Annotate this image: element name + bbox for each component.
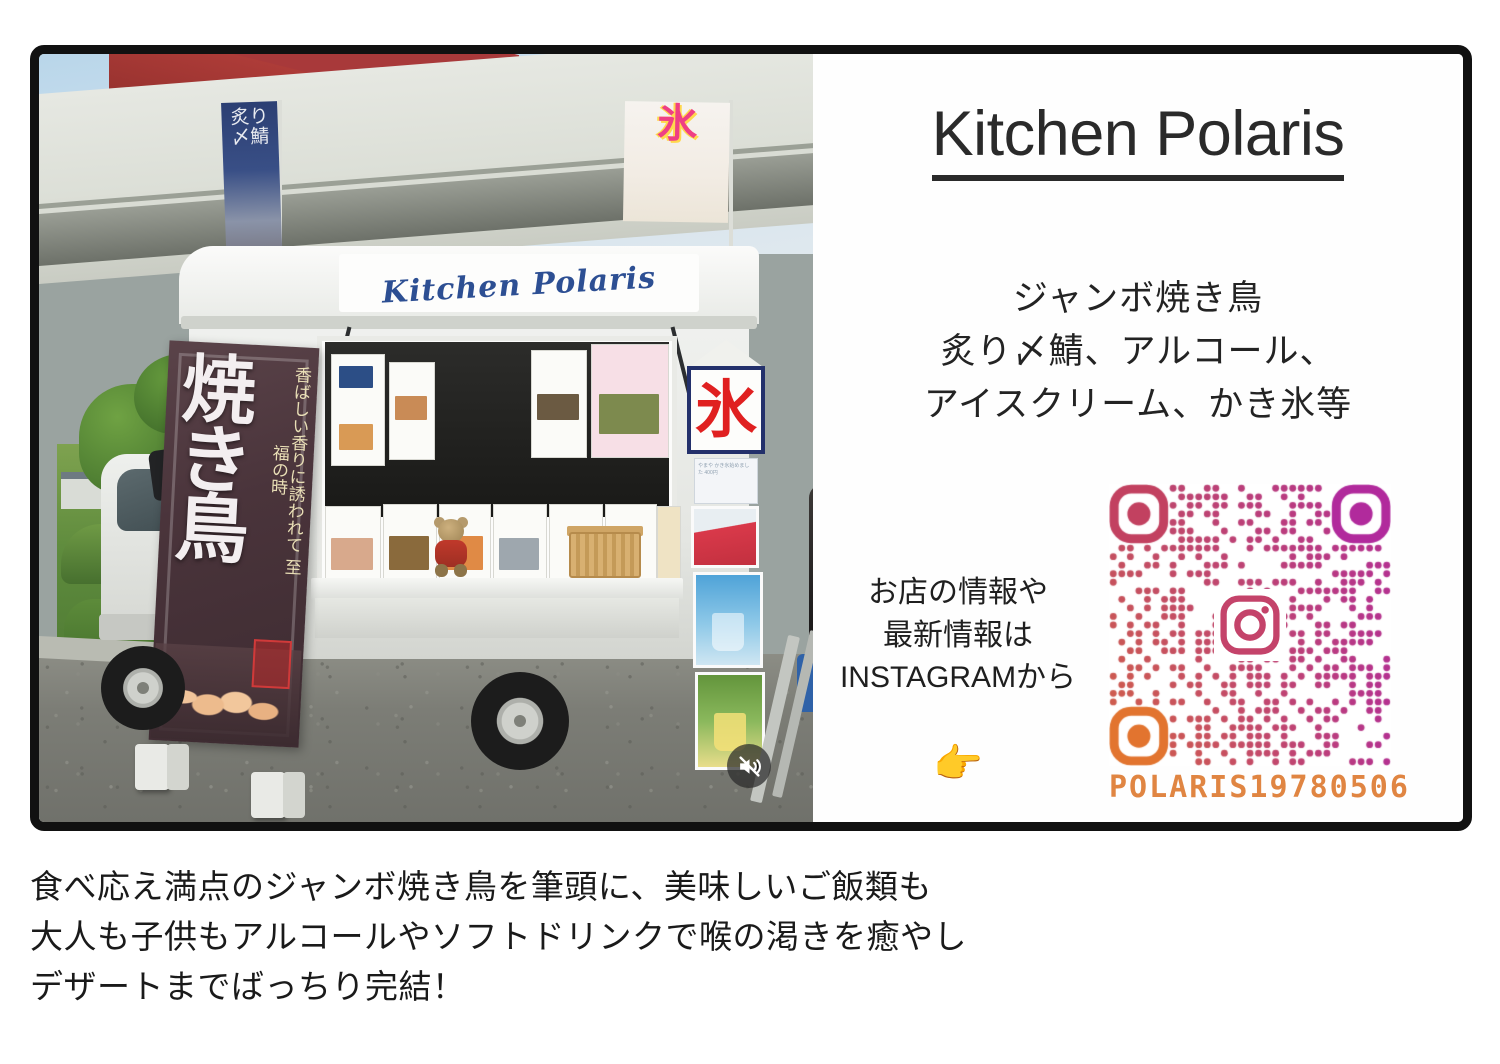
food-truck-video[interactable]: 炙り〆鯖 氷 Kitchen Polaris <box>39 54 813 822</box>
ice-cream-photo <box>712 613 744 651</box>
caption-line: 食べ応え満点のジャンボ焼き鳥を筆頭に、美味しいご飯類も <box>30 862 1330 912</box>
info-panel: Kitchen Polaris ジャンボ焼き鳥 炙り〆鯖、アルコール、 アイスク… <box>813 54 1463 822</box>
promo-line: INSTAGRAMから <box>833 657 1083 700</box>
ice-sign: 氷 <box>687 366 765 454</box>
item-card-thumb <box>331 538 373 570</box>
instagram-qr-block[interactable]: POLARIS19780506 <box>1109 484 1399 805</box>
pointing-right-hand-icon: 👉 <box>833 744 1083 784</box>
item-card-thumb <box>499 538 539 570</box>
ice-sub-poster: やまや かき氷始めました 400円 <box>694 458 758 504</box>
banner-stamp <box>252 639 292 689</box>
white-flag-label: 氷 <box>628 103 726 167</box>
ice-cream-poster <box>693 572 763 668</box>
counter-skirt <box>315 598 679 638</box>
speaker-muted-icon <box>737 754 762 779</box>
promo-line: お店の情報や <box>833 572 1083 615</box>
menu-line: アイスクリーム、かき氷等 <box>813 378 1463 431</box>
menu-poster-thumb <box>395 396 427 420</box>
shaved-ice-poster <box>691 506 759 568</box>
instagram-qr-code[interactable] <box>1109 484 1391 766</box>
listing-card: 炙り〆鯖 氷 Kitchen Polaris <box>30 45 1472 831</box>
banner-weight-right-b <box>283 772 305 818</box>
instagram-handle: POLARIS19780506 <box>1109 770 1399 805</box>
wicker-basket <box>569 532 641 578</box>
bear-leg-left <box>435 564 448 577</box>
banner-main-text: 焼き鳥 <box>162 355 269 568</box>
bear-leg-right <box>454 564 467 577</box>
teddy-bear-mascot <box>431 519 471 577</box>
caption-line: 大人も子供もアルコールやソフトドリンクで喉の渇きを癒やし <box>30 912 1330 962</box>
menu-summary: ジャンボ焼き鳥 炙り〆鯖、アルコール、 アイスクリーム、かき氷等 <box>813 272 1463 432</box>
instagram-camera-icon <box>1214 589 1286 661</box>
promo-line: 最新情報は <box>833 615 1083 658</box>
menu-poster-thumb <box>339 424 373 450</box>
instagram-promo-text: お店の情報や 最新情報は INSTAGRAMから <box>833 572 1083 700</box>
ice-sign-text: 氷 <box>695 379 757 441</box>
navy-flag-label: 炙り〆鯖 <box>221 107 278 149</box>
bear-body <box>435 540 467 567</box>
menu-line: 炙り〆鯖、アルコール、 <box>813 325 1463 378</box>
brand-title: Kitchen Polaris <box>813 98 1463 170</box>
item-card-narrow <box>657 506 681 580</box>
banner-weight-right <box>251 772 285 818</box>
menu-poster-thumb <box>537 394 579 420</box>
rear-wheel <box>471 672 569 770</box>
banner-weight-left-b <box>167 744 189 790</box>
mute-button[interactable] <box>727 744 771 788</box>
menu-line: ジャンボ焼き鳥 <box>813 272 1463 325</box>
banner-weight-left <box>135 744 169 790</box>
service-counter <box>311 578 683 600</box>
sashimi-poster-thumb <box>599 394 659 434</box>
brand-title-text: Kitchen Polaris <box>932 99 1345 181</box>
menu-poster-thumb <box>339 366 373 388</box>
front-wheel <box>101 646 185 730</box>
item-card-thumb <box>389 536 429 570</box>
caption-line: デザートまでばっちり完結！ <box>30 962 1330 1012</box>
white-nobori-flag: 氷 <box>623 101 730 223</box>
listing-caption: 食べ応え満点のジャンボ焼き鳥を筆頭に、美味しいご飯類も 大人も子供もアルコールや… <box>30 862 1330 1012</box>
